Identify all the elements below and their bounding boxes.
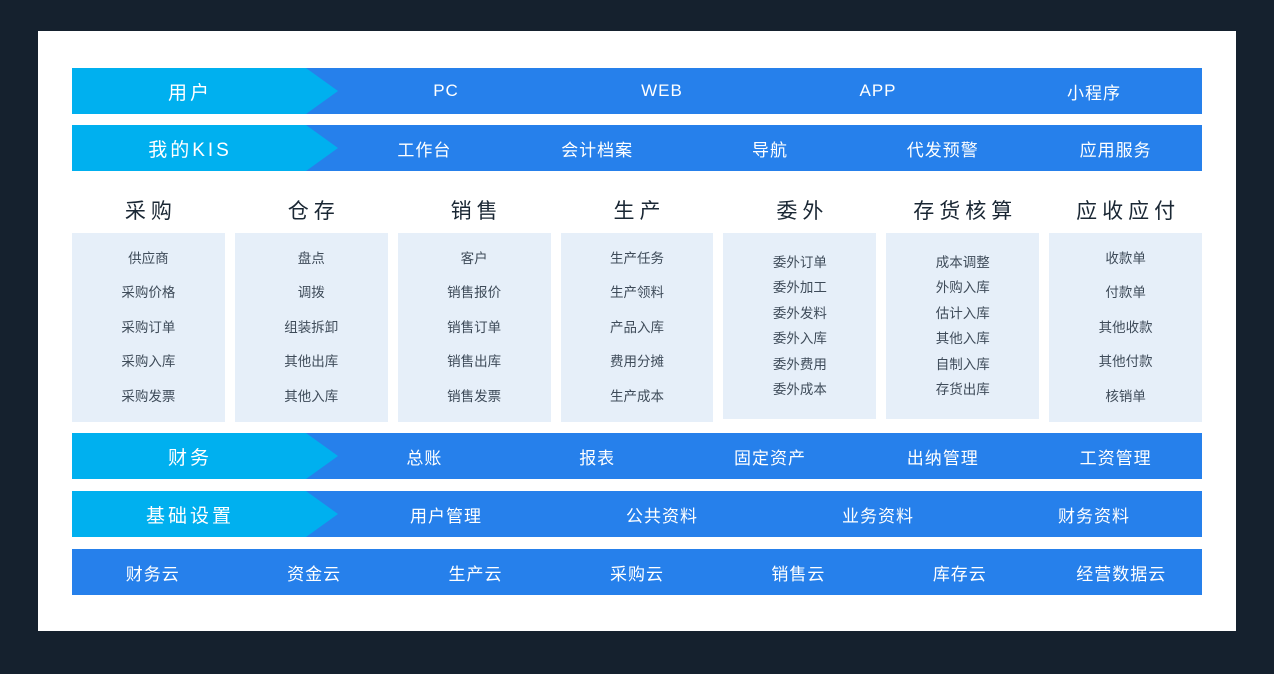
module-item[interactable]: 委外成本 — [773, 383, 827, 397]
module-item[interactable]: 自制入库 — [936, 358, 990, 372]
bar-finance-item-1[interactable]: 报表 — [511, 444, 684, 469]
module-item[interactable]: 其他入库 — [936, 332, 990, 346]
module-item[interactable]: 销售报价 — [447, 286, 501, 300]
module-item[interactable]: 销售发票 — [447, 390, 501, 404]
bar-finance-item-0[interactable]: 总账 — [338, 444, 511, 469]
module-item[interactable]: 产品入库 — [610, 321, 664, 335]
module-item[interactable]: 盘点 — [298, 252, 325, 266]
module-card-sales: 客户 销售报价 销售订单 销售出库 销售发票 — [398, 233, 551, 422]
module-item[interactable]: 其他入库 — [284, 390, 338, 404]
bar-finance-head[interactable]: 财务 — [72, 433, 338, 479]
bar-basic-item-1[interactable]: 公共资料 — [554, 502, 770, 527]
bar-user-item-0[interactable]: PC — [338, 81, 554, 101]
bar-basic-item-0[interactable]: 用户管理 — [338, 502, 554, 527]
bar-user-item-3[interactable]: 小程序 — [986, 79, 1202, 104]
bar-user-item-2[interactable]: APP — [770, 81, 986, 101]
module-item[interactable]: 估计入库 — [936, 307, 990, 321]
bar-basic-settings-head-label: 基础设置 — [146, 501, 234, 528]
bar-user-items: PC WEB APP 小程序 — [338, 68, 1202, 114]
bar-mykis-item-3[interactable]: 代发预警 — [856, 136, 1029, 161]
bar-cloud-item-3[interactable]: 采购云 — [556, 560, 717, 585]
bar-user-channels: 用户 PC WEB APP 小程序 — [72, 68, 1202, 114]
bar-cloud-item-1[interactable]: 资金云 — [233, 560, 394, 585]
module-item[interactable]: 成本调整 — [936, 256, 990, 270]
module-item[interactable]: 收款单 — [1105, 252, 1146, 266]
bar-user-item-1[interactable]: WEB — [554, 81, 770, 101]
bar-finance-items: 总账 报表 固定资产 出纳管理 工资管理 — [338, 433, 1202, 479]
bar-finance-head-label: 财务 — [168, 443, 212, 470]
module-columns: 采购 供应商 采购价格 采购订单 采购入库 采购发票 仓存 盘点 调拨 组装拆卸… — [72, 191, 1202, 419]
module-card-purchase: 供应商 采购价格 采购订单 采购入库 采购发票 — [72, 233, 225, 422]
module-item[interactable]: 其他收款 — [1099, 321, 1153, 335]
module-item[interactable]: 生产领料 — [610, 286, 664, 300]
module-item[interactable]: 生产任务 — [610, 252, 664, 266]
module-title-sales: 销售 — [398, 191, 551, 233]
bar-mykis-item-2[interactable]: 导航 — [684, 136, 857, 161]
module-title-subcontract: 委外 — [723, 191, 876, 233]
bar-finance-item-2[interactable]: 固定资产 — [684, 444, 857, 469]
module-column-inventory: 仓存 盘点 调拨 组装拆卸 其他出库 其他入库 — [235, 191, 388, 419]
module-item[interactable]: 客户 — [461, 252, 488, 266]
bar-cloud-services: 财务云 资金云 生产云 采购云 销售云 库存云 经营数据云 — [72, 549, 1202, 595]
bar-basic-settings-head[interactable]: 基础设置 — [72, 491, 338, 537]
bar-user-head[interactable]: 用户 — [72, 68, 338, 114]
module-item[interactable]: 销售订单 — [447, 321, 501, 335]
module-item[interactable]: 其他出库 — [284, 355, 338, 369]
module-item[interactable]: 委外费用 — [773, 358, 827, 372]
module-item[interactable]: 委外发料 — [773, 307, 827, 321]
module-title-inventory: 仓存 — [235, 191, 388, 233]
module-card-subcontract: 委外订单 委外加工 委外发料 委外入库 委外费用 委外成本 — [723, 233, 876, 419]
bar-basic-item-3[interactable]: 财务资料 — [986, 502, 1202, 527]
module-title-receivable-payable: 应收应付 — [1049, 191, 1202, 233]
bar-mykis-head-label: 我的KIS — [148, 135, 232, 162]
bar-cloud-items: 财务云 资金云 生产云 采购云 销售云 库存云 经营数据云 — [72, 549, 1202, 595]
module-card-production: 生产任务 生产领料 产品入库 费用分摊 生产成本 — [561, 233, 714, 422]
module-item[interactable]: 组装拆卸 — [284, 321, 338, 335]
module-item[interactable]: 委外加工 — [773, 281, 827, 295]
white-panel: 用户 PC WEB APP 小程序 我的KIS 工作台 会计档案 导航 代发预警… — [38, 31, 1236, 631]
module-item[interactable]: 采购价格 — [121, 286, 175, 300]
module-column-sales: 销售 客户 销售报价 销售订单 销售出库 销售发票 — [398, 191, 551, 419]
module-item[interactable]: 外购入库 — [936, 281, 990, 295]
bar-mykis-item-0[interactable]: 工作台 — [338, 136, 511, 161]
bar-mykis-item-4[interactable]: 应用服务 — [1029, 136, 1202, 161]
bar-finance: 财务 总账 报表 固定资产 出纳管理 工资管理 — [72, 433, 1202, 479]
module-title-purchase: 采购 — [72, 191, 225, 233]
bar-mykis-head[interactable]: 我的KIS — [72, 125, 338, 171]
module-card-receivable-payable: 收款单 付款单 其他收款 其他付款 核销单 — [1049, 233, 1202, 422]
module-item[interactable]: 调拨 — [298, 286, 325, 300]
module-item[interactable]: 采购发票 — [121, 390, 175, 404]
module-item[interactable]: 费用分摊 — [610, 355, 664, 369]
module-item[interactable]: 供应商 — [128, 252, 169, 266]
bar-cloud-item-5[interactable]: 库存云 — [879, 560, 1040, 585]
module-item[interactable]: 委外订单 — [773, 256, 827, 270]
module-item[interactable]: 核销单 — [1105, 390, 1146, 404]
bar-mykis-items: 工作台 会计档案 导航 代发预警 应用服务 — [338, 125, 1202, 171]
module-column-subcontract: 委外 委外订单 委外加工 委外发料 委外入库 委外费用 委外成本 — [723, 191, 876, 419]
module-title-production: 生产 — [561, 191, 714, 233]
bar-cloud-item-6[interactable]: 经营数据云 — [1041, 560, 1202, 585]
module-item[interactable]: 委外入库 — [773, 332, 827, 346]
module-item[interactable]: 采购订单 — [121, 321, 175, 335]
bar-cloud-item-4[interactable]: 销售云 — [718, 560, 879, 585]
module-column-purchase: 采购 供应商 采购价格 采购订单 采购入库 采购发票 — [72, 191, 225, 419]
module-item[interactable]: 存货出库 — [936, 383, 990, 397]
module-item[interactable]: 销售出库 — [447, 355, 501, 369]
bar-cloud-item-0[interactable]: 财务云 — [72, 560, 233, 585]
bar-finance-item-3[interactable]: 出纳管理 — [856, 444, 1029, 469]
module-item[interactable]: 其他付款 — [1099, 355, 1153, 369]
bar-basic-item-2[interactable]: 业务资料 — [770, 502, 986, 527]
bar-mykis: 我的KIS 工作台 会计档案 导航 代发预警 应用服务 — [72, 125, 1202, 171]
module-card-stock-accounting: 成本调整 外购入库 估计入库 其他入库 自制入库 存货出库 — [886, 233, 1039, 419]
module-item[interactable]: 付款单 — [1105, 286, 1146, 300]
bar-basic-settings: 基础设置 用户管理 公共资料 业务资料 财务资料 — [72, 491, 1202, 537]
module-column-receivable-payable: 应收应付 收款单 付款单 其他收款 其他付款 核销单 — [1049, 191, 1202, 419]
module-card-inventory: 盘点 调拨 组装拆卸 其他出库 其他入库 — [235, 233, 388, 422]
diagram-canvas: 用户 PC WEB APP 小程序 我的KIS 工作台 会计档案 导航 代发预警… — [0, 0, 1274, 674]
module-item[interactable]: 生产成本 — [610, 390, 664, 404]
module-title-stock-accounting: 存货核算 — [886, 191, 1039, 233]
bar-basic-settings-items: 用户管理 公共资料 业务资料 财务资料 — [338, 491, 1202, 537]
module-column-production: 生产 生产任务 生产领料 产品入库 费用分摊 生产成本 — [561, 191, 714, 419]
module-item[interactable]: 采购入库 — [121, 355, 175, 369]
bar-user-head-label: 用户 — [168, 78, 212, 105]
bar-finance-item-4[interactable]: 工资管理 — [1029, 444, 1202, 469]
bar-cloud-item-2[interactable]: 生产云 — [395, 560, 556, 585]
module-column-stock-accounting: 存货核算 成本调整 外购入库 估计入库 其他入库 自制入库 存货出库 — [886, 191, 1039, 419]
bar-mykis-item-1[interactable]: 会计档案 — [511, 136, 684, 161]
